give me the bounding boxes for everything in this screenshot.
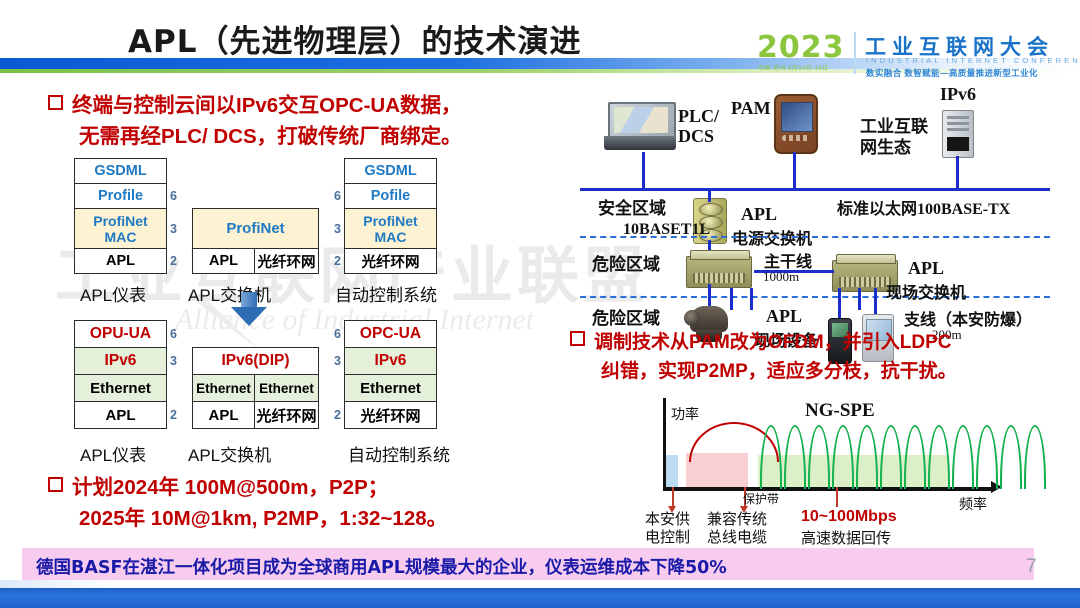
cell-profinet-mac-left-l1: ProfiNet xyxy=(93,213,147,229)
cell-ethernet-right: Ethernet xyxy=(345,375,437,402)
cell2-apl-mid: APL xyxy=(193,402,255,429)
ethernet-bus-line xyxy=(580,188,1050,191)
cell2-apl-left: APL xyxy=(75,402,167,429)
label-data-rate: 10~100Mbps xyxy=(801,508,897,526)
footer-blue-bar xyxy=(0,588,1080,608)
cell-ethernet-mid-2: Ethernet xyxy=(255,375,319,402)
table-row: Profile 6 6 Pofile xyxy=(75,184,437,209)
plc-dcs-laptop-icon xyxy=(608,102,680,152)
spur-line-b2 xyxy=(858,288,861,310)
cell-ipv6-dip-mid: IPv6(DIP) xyxy=(193,348,319,375)
cell-profinet-mac-right-l2: MAC xyxy=(375,229,407,245)
cell2-num-6-left: 6 xyxy=(167,321,193,348)
slide-root: 工业互联网产业联盟 Alliance of Industrial Interne… xyxy=(0,0,1080,608)
cell-mid-empty-2 xyxy=(193,184,319,209)
ofdm-lobe xyxy=(928,425,950,489)
power-switch-uplink xyxy=(708,188,711,202)
pam-screen xyxy=(781,102,813,132)
label-apl-field-switch-line2: 现场交换机 xyxy=(886,279,966,303)
table-row: APL 2 APL 光纤环网 2 光纤环网 xyxy=(75,402,437,429)
cell-fiber-ring-right: 光纤环网 xyxy=(345,249,437,274)
footer-text: 德国BASF在湛江一体化项目成为全球商用APL规模最大的企业，仪表运维成本下降5… xyxy=(36,554,727,579)
cell-opu-ua-left: OPU-UA xyxy=(75,321,167,348)
table-row: GSDML GSDML xyxy=(75,159,437,184)
ofdm-lobe xyxy=(976,425,998,489)
cell-layer-num-2-left: 2 xyxy=(167,249,193,274)
caption-apl-instrument-2: APL仪表 xyxy=(80,441,146,466)
ofdm-lobe xyxy=(904,425,926,489)
table-row: APL 2 APL 光纤环网 2 光纤环网 xyxy=(75,249,437,274)
cell-profinet-mac-right-l1: ProfiNet xyxy=(363,213,417,229)
protocol-stack-table-opcua: OPU-UA 6 6 OPC-UA IPv6 3 IPv6(DIP) 3 IPv… xyxy=(74,320,437,429)
label-spur: 支线（本安防爆） xyxy=(904,306,1032,330)
spur-line-a3 xyxy=(750,288,753,310)
chart-xlabel: 频率 xyxy=(959,494,987,514)
label-plc-dcs-line1: PLC/ xyxy=(678,106,719,127)
cell2-num-2-left: 2 xyxy=(167,402,193,429)
ofdm-lobe xyxy=(760,425,782,489)
chart-ylabel: 功率 xyxy=(671,404,699,424)
cell-num-spacer-l xyxy=(167,159,193,184)
cell-layer-num-3-left: 3 xyxy=(167,209,193,249)
label-standard-ethernet: 标准以太网100BASE-TX xyxy=(837,195,1010,219)
label-safe-zone: 安全区域 xyxy=(598,194,666,219)
cell-apl-left: APL xyxy=(75,249,167,274)
square-bullet-icon-2 xyxy=(570,331,585,346)
caption-auto-control-2: 自动控制系统 xyxy=(348,441,450,466)
cell-pofile-right: Pofile xyxy=(345,184,437,209)
server-tower xyxy=(942,110,974,158)
logo-divider xyxy=(854,32,856,74)
table-row: IPv6 3 IPv6(DIP) 3 IPv6 xyxy=(75,348,437,375)
cell-ipv6-right: IPv6 xyxy=(345,348,437,375)
band-intrinsic-power xyxy=(666,455,678,487)
power-coil-1 xyxy=(699,203,723,216)
ofdm-lobe xyxy=(1024,425,1046,489)
bullet-1-line-1: 终端与控制云间以IPv6交互OPC-UA数据， xyxy=(72,94,462,117)
label-hazard-zone-2: 危险区域 xyxy=(592,304,660,329)
field-switch-a-body xyxy=(686,256,752,288)
label-guard-band: 保护带 xyxy=(743,490,779,507)
field-switch-a-vents xyxy=(693,273,745,283)
table-row: OPU-UA 6 6 OPC-UA xyxy=(75,321,437,348)
cell-layer-num-2-right: 2 xyxy=(319,249,345,274)
server-slot-1 xyxy=(947,116,969,119)
field-switch-b-top xyxy=(836,254,896,264)
laptop-keyboard xyxy=(604,136,676,150)
bullet-2-line-1: 调制技术从PAM改为OFDM，并引入LDPC xyxy=(594,332,951,353)
cell2-num-6-right: 6 xyxy=(319,321,345,348)
ofdm-lobe xyxy=(952,425,974,489)
spectrum-chart: 功率 频率 NG-SPE 保护带 本安供 xyxy=(645,398,1065,543)
caption-auto-control-1: 自动控制系统 xyxy=(335,281,437,306)
server-slot-2 xyxy=(947,122,969,125)
logo-english-title: INDUSTRIAL INTERNET CONFERENCE xyxy=(866,56,1080,65)
cell-ipv6-left: IPv6 xyxy=(75,348,167,375)
page-title: APL（先进物理层）的技术演进 xyxy=(128,16,581,61)
network-topology-diagram: PLC/ DCS PAM IPv6 工业互联 网生态 安全区域 标准以太网100… xyxy=(560,84,1080,324)
field-switch-b-vents xyxy=(839,277,891,287)
ofdm-lobe xyxy=(784,425,806,489)
cell-fiber-ring-mid: 光纤环网 xyxy=(255,249,319,274)
bullet-point-1: 终端与控制云间以IPv6交互OPC-UA数据， 无需再经PLC/ DCS，打破传… xyxy=(48,90,548,152)
plc-drop-line xyxy=(642,152,645,190)
caption-apl-instrument-1: APL仪表 xyxy=(80,281,146,306)
cell2-mid-empty xyxy=(193,321,319,348)
ofdm-lobe xyxy=(1000,425,1022,489)
laptop-screen-content xyxy=(614,107,668,133)
cell-apl-mid: APL xyxy=(193,249,255,274)
label-data-rate-sub: 高速数据回传 xyxy=(801,527,891,548)
pam-handheld-icon xyxy=(774,94,818,154)
bullet-point-3: 计划2024年 100M@500m，P2P； 2025年 10M@1km, P2… xyxy=(48,472,548,534)
label-eco-line2: 网生态 xyxy=(860,133,911,158)
ofdm-lobe xyxy=(808,425,830,489)
cell-profinet-mac-left: ProfiNet MAC xyxy=(75,209,167,249)
cell-opc-ua-right: OPC-UA xyxy=(345,321,437,348)
label-plc-dcs-line2: DCS xyxy=(678,126,714,147)
bullet-3-line-2: 2025年 10M@1km, P2MP，1:32~128。 xyxy=(48,503,447,534)
bullet-1-line-2: 无需再经PLC/ DCS，打破传统厂商绑定。 xyxy=(48,121,462,152)
logo-year: 2023 xyxy=(757,30,845,65)
cell2-spacer-l xyxy=(167,375,193,402)
conference-logo: 2023 中国·苏州 6月14日-16日 工业互联网大会 INDUSTRIAL … xyxy=(757,30,1073,78)
cell2-num-3-left: 3 xyxy=(167,348,193,375)
caption-apl-switch-2: APL交换机 xyxy=(188,441,271,466)
cell2-spacer-r xyxy=(319,375,345,402)
laptop-screen xyxy=(608,102,676,140)
ofdm-lobe xyxy=(856,425,878,489)
cell-layer-num-6-left: 6 xyxy=(167,184,193,209)
label-legacy-line2: 总线电缆 xyxy=(707,526,767,547)
ipv6-server-icon xyxy=(942,110,974,158)
cell2-fiber-ring-right: 光纤环网 xyxy=(345,402,437,429)
cell-ethernet-left: Ethernet xyxy=(75,375,167,402)
bullet-3-line-1: 计划2024年 100M@500m，P2P； xyxy=(72,476,388,499)
logo-slogan: 数实融合 数智赋能—高质量推进新型工业化 xyxy=(866,67,1038,79)
cell-gsdml-left: GSDML xyxy=(75,159,167,184)
chart-title: NG-SPE xyxy=(805,400,875,422)
server-drop-line xyxy=(956,156,959,190)
ofdm-subcarrier-lobes xyxy=(760,425,1048,489)
protocol-stack-table-profinet: GSDML GSDML Profile 6 6 Pofile ProfiNet … xyxy=(74,158,437,274)
label-pam: PAM xyxy=(731,98,771,119)
page-number: 7 xyxy=(1026,556,1037,578)
cell-profinet-mid: ProfiNet xyxy=(193,209,319,249)
pam-body xyxy=(774,94,818,154)
bullet-point-2: 调制技术从PAM改为OFDM，并引入LDPC 纠错，实现P2MP，适应多分枝，抗… xyxy=(570,328,1040,386)
cell-mid-empty xyxy=(193,159,319,184)
label-apl-power-line1: APL xyxy=(741,204,777,225)
square-bullet-icon xyxy=(48,95,63,110)
field-switch-a-top xyxy=(690,250,750,260)
label-apl-field-switch-line1: APL xyxy=(908,258,944,279)
label-power-ctrl-line2: 电控制 xyxy=(645,526,690,547)
logo-date: 中国·苏州 6月14日-16日 xyxy=(758,63,828,72)
cell2-num-2-right: 2 xyxy=(319,402,345,429)
annotation-line-rate xyxy=(836,487,838,507)
square-bullet-icon-3 xyxy=(48,477,63,492)
label-trunk-length: 1000m xyxy=(763,269,799,285)
apl-field-switch-a-icon xyxy=(686,256,754,288)
label-ipv6: IPv6 xyxy=(940,84,976,105)
zone-divider-2 xyxy=(580,296,1050,298)
bullet-2-line-2: 纠错，实现P2MP，适应多分枝，抗干扰。 xyxy=(570,357,957,386)
cell-ethernet-mid-1: Ethernet xyxy=(193,375,255,402)
cell-layer-num-6-right: 6 xyxy=(319,184,345,209)
ofdm-lobe xyxy=(880,425,902,489)
cell-profinet-mac-right: ProfiNet MAC xyxy=(345,209,437,249)
zone-divider-1 xyxy=(580,236,1050,238)
table-row: Ethernet Ethernet Ethernet Ethernet xyxy=(75,375,437,402)
arrow-shaft xyxy=(241,292,257,308)
cell-gsdml-right: GSDML xyxy=(345,159,437,184)
label-apl-field-device-line1: APL xyxy=(766,306,802,327)
pam-buttons xyxy=(782,135,810,141)
server-slot-3 xyxy=(947,128,969,131)
table-row: ProfiNet MAC 3 ProfiNet 3 ProfiNet MAC xyxy=(75,209,437,249)
cell-num-spacer-r xyxy=(319,159,345,184)
ofdm-lobe xyxy=(832,425,854,489)
cell-profinet-mac-left-l2: MAC xyxy=(105,229,137,245)
cell-profile-left: Profile xyxy=(75,184,167,209)
label-hazard-zone-1: 危险区域 xyxy=(592,250,660,275)
cell2-fiber-ring-mid: 光纤环网 xyxy=(255,402,319,429)
cell-layer-num-3-right: 3 xyxy=(319,209,345,249)
camera-lens xyxy=(684,310,700,326)
pam-drop-line xyxy=(793,152,796,190)
server-drive-bay xyxy=(947,137,969,151)
cell2-num-3-right: 3 xyxy=(319,348,345,375)
